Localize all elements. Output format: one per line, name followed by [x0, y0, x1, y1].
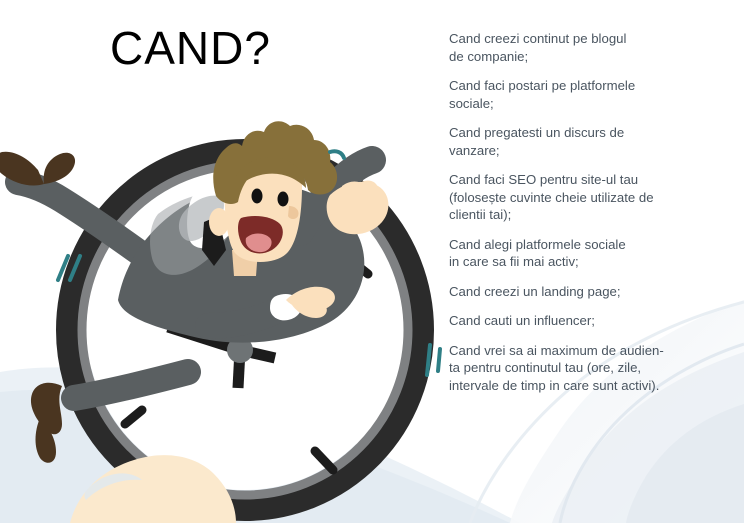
text-block-seo: Cand faci SEO pentru site-ul tau (folose… — [449, 171, 734, 224]
bullet-text-column: Cand creezi continut pe blogul de compan… — [449, 30, 734, 406]
text-block-social-posts: Cand faci postari pe platformele sociale… — [449, 77, 734, 112]
text-block-choose-platforms: Cand alegi platformele sociale in care s… — [449, 236, 734, 271]
character-eye-right — [278, 192, 289, 207]
text-block-blog-content: Cand creezi continut pe blogul de compan… — [449, 30, 734, 65]
text-block-max-audience: Cand vrei sa ai maximum de audien- ta pe… — [449, 342, 734, 395]
slide-root: CAND? — [0, 0, 744, 523]
text-accent-line-2 — [438, 349, 440, 371]
text-accent-line-1 — [427, 345, 430, 375]
character-hair-accent — [330, 151, 344, 158]
text-block-sales-speech: Cand pregatesti un discurs de vanzare; — [449, 124, 734, 159]
text-block-landing-page: Cand creezi un landing page; — [449, 283, 734, 301]
character-shoe-upper-left-toe — [44, 153, 75, 184]
text-accent-motion-lines — [424, 343, 446, 377]
character-eye-left — [252, 189, 263, 204]
text-block-influencer: Cand cauti un influencer; — [449, 312, 734, 330]
